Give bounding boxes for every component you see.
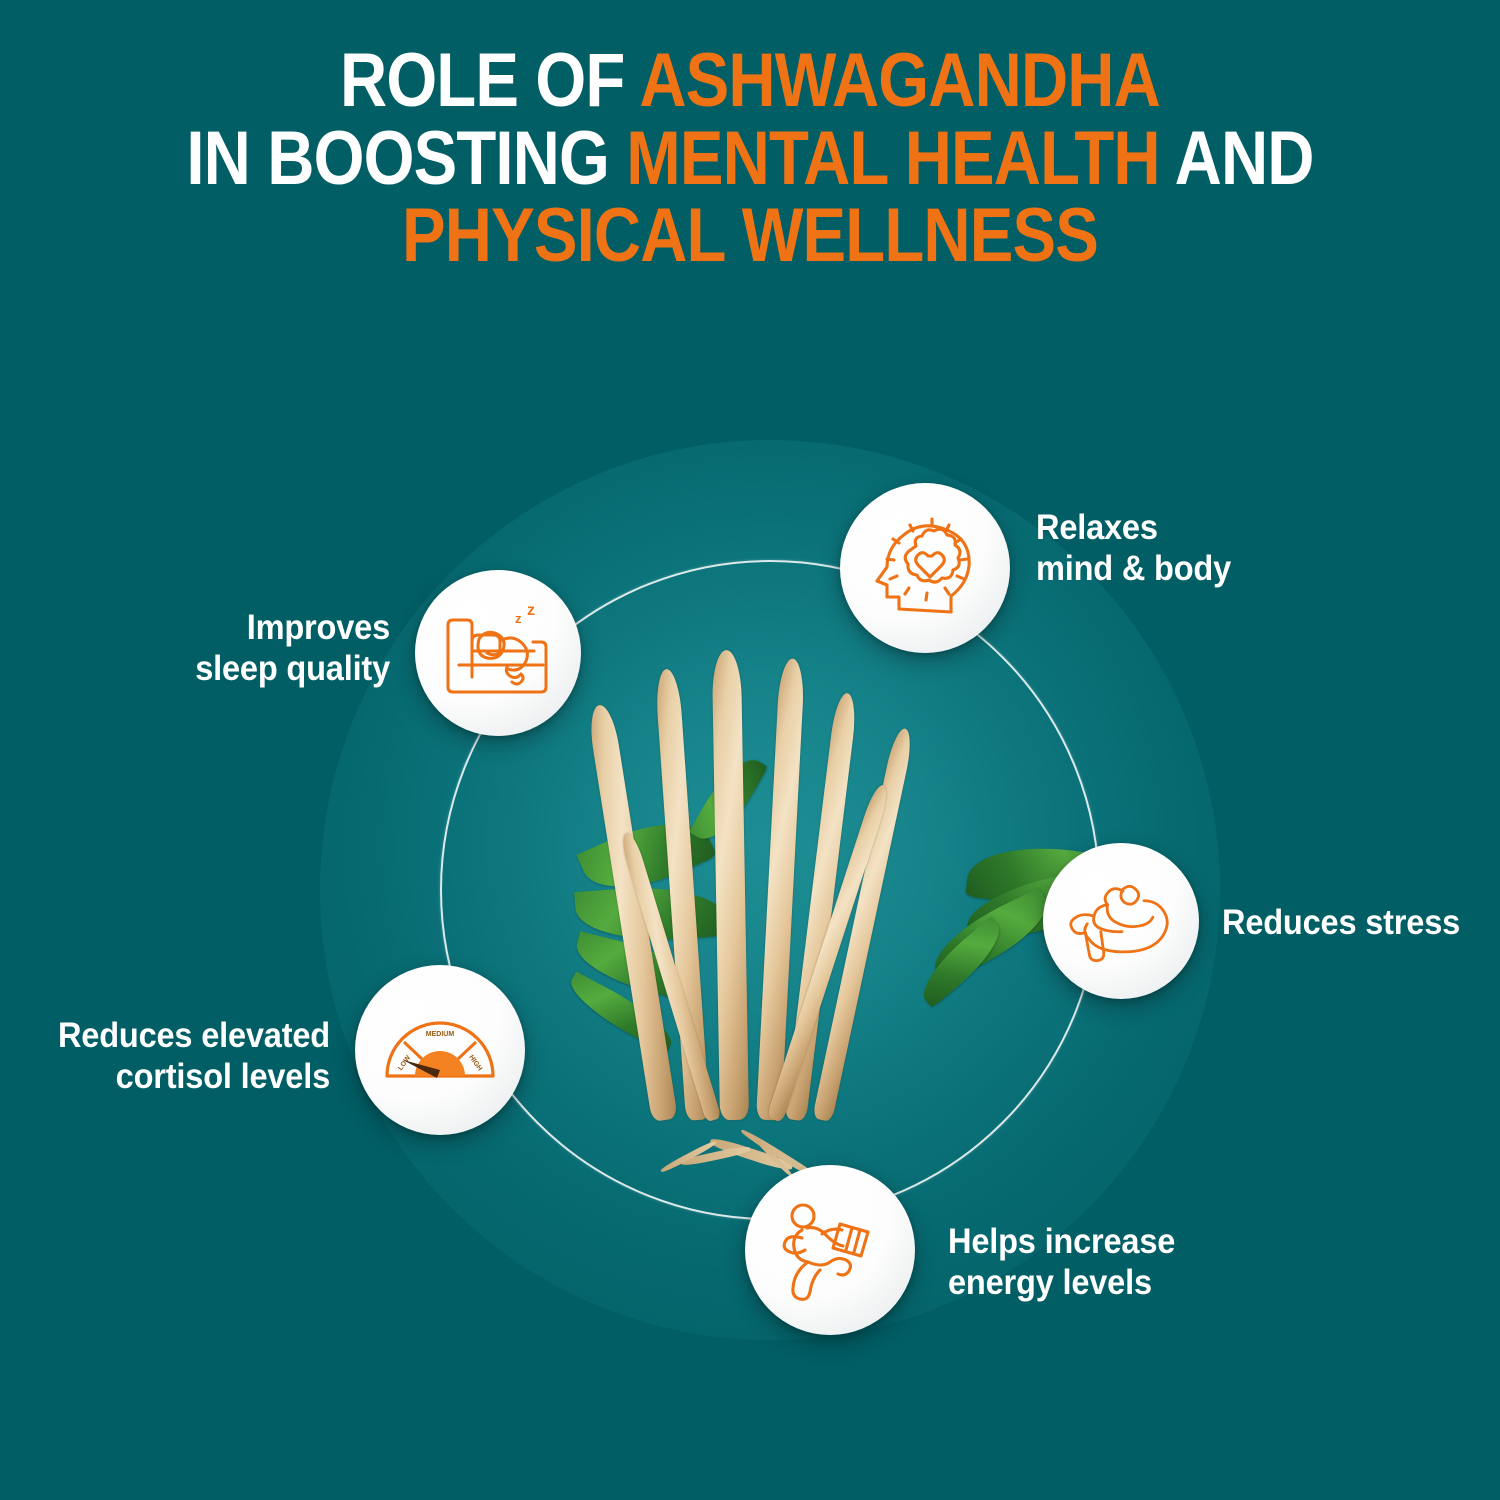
sleep-z-small: z <box>515 611 522 626</box>
node-sleep-quality[interactable]: z z <box>415 570 581 736</box>
title-line-2: IN BOOSTING MENTAL HEALTH AND <box>105 120 1395 198</box>
caption-relaxes-mind-body: Relaxes mind & body <box>1036 508 1343 590</box>
gauge-meter-icon: LOW MEDIUM HIGH <box>379 998 501 1102</box>
ashwagandha-root-plant-image <box>560 600 980 1160</box>
sleep-z-large: z <box>527 602 535 619</box>
running-person-icon <box>774 1194 886 1306</box>
node-reduces-stress[interactable] <box>1043 843 1199 999</box>
caption-sleep-quality: Improves sleep quality <box>83 608 390 690</box>
person-reclining-icon <box>1068 868 1174 974</box>
node-energy-levels[interactable] <box>745 1165 915 1335</box>
head-brain-heart-icon <box>869 512 981 624</box>
caption-cortisol-levels: Reduces elevated cortisol levels <box>23 1016 330 1098</box>
title-line-1-orange: ASHWAGANDHA <box>639 38 1160 123</box>
title-line-2-white-b: AND <box>1160 116 1314 201</box>
title-line-2-white-a: IN BOOSTING <box>186 116 626 201</box>
title-line-1: ROLE OF ASHWAGANDHA <box>105 42 1395 120</box>
caption-energy-levels: Helps increase energy levels <box>948 1222 1264 1304</box>
node-cortisol-levels[interactable]: LOW MEDIUM HIGH <box>355 965 525 1135</box>
node-relaxes-mind-body[interactable] <box>840 483 1010 653</box>
gauge-label-medium: MEDIUM <box>426 1031 455 1038</box>
caption-reduces-stress: Reduces stress <box>1222 903 1500 944</box>
title-line-3: PHYSICAL WELLNESS <box>105 197 1395 275</box>
title-line-1-white: ROLE OF <box>340 38 639 123</box>
person-sleeping-bed-icon: z z <box>439 601 557 705</box>
page-title: ROLE OF ASHWAGANDHA IN BOOSTING MENTAL H… <box>105 42 1395 275</box>
gauge-label-high: HIGH <box>467 1054 483 1072</box>
title-line-2-orange: MENTAL HEALTH <box>626 116 1159 201</box>
